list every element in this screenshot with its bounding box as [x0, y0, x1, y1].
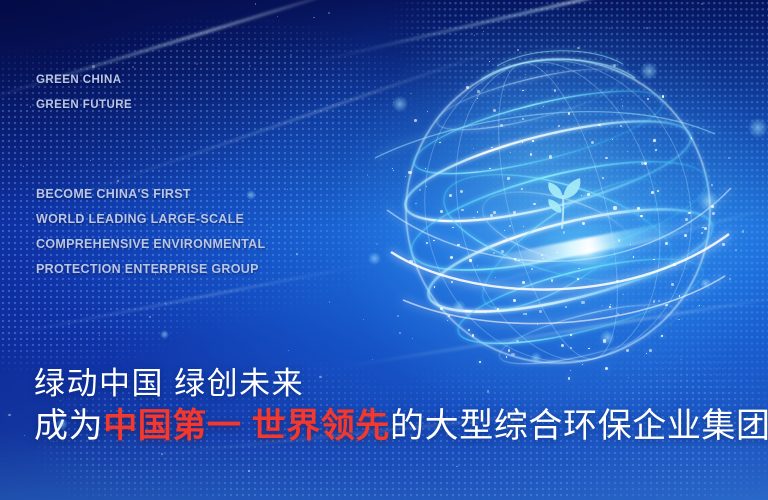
headline-highlight-china-first: 中国第一: [103, 407, 241, 445]
mission-line-1: BECOME CHINA'S FIRST: [36, 182, 265, 207]
headline-prefix: 成为: [34, 407, 103, 445]
mission-line-3: COMPREHENSIVE ENVIRONMENTAL: [36, 232, 265, 257]
mission-line-2: WORLD LEADING LARGE-SCALE: [36, 207, 265, 232]
tagline-english: GREEN CHINA GREEN FUTURE: [36, 68, 132, 118]
headline-chinese: 绿动中国 绿创未来 成为中国第一世界领先的大型综合环保企业集团: [34, 364, 768, 448]
headline-line-2: 成为中国第一世界领先的大型综合环保企业集团: [34, 404, 768, 448]
headline-highlight-world-leading: 世界领先: [252, 407, 390, 445]
hero-banner: GREEN CHINA GREEN FUTURE BECOME CHINA'S …: [0, 0, 768, 500]
sprout-seedling-icon: [530, 168, 596, 230]
tagline-line-2: GREEN FUTURE: [36, 93, 132, 118]
headline-line-1: 绿动中国 绿创未来: [34, 364, 768, 404]
mission-line-4: PROTECTION ENTERPRISE GROUP: [36, 257, 265, 282]
headline-suffix: 的大型综合环保企业集团: [390, 407, 768, 445]
tagline-line-1: GREEN CHINA: [36, 68, 132, 93]
mission-statement-english: BECOME CHINA'S FIRST WORLD LEADING LARGE…: [36, 182, 265, 282]
